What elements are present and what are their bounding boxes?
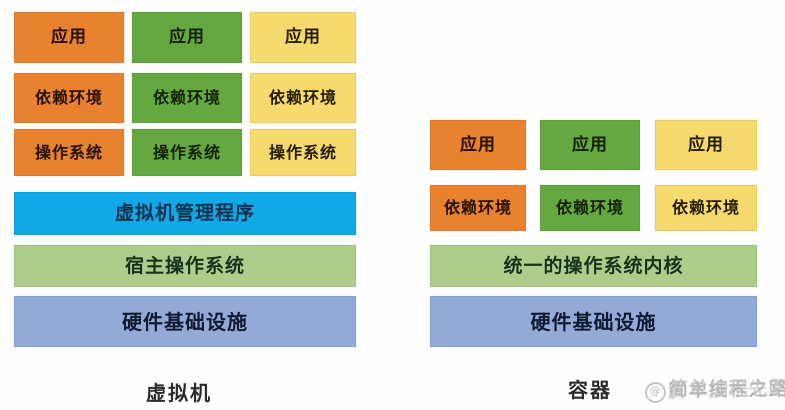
vm-app-box-2[interactable]: 应用: [132, 12, 242, 63]
vm-caption: 虚拟机: [146, 377, 212, 406]
vm-deps-box-1[interactable]: 依赖环境: [14, 73, 124, 123]
vm-deps-box-2[interactable]: 依赖环境: [132, 73, 242, 123]
vm-os-box-2[interactable]: 操作系统: [132, 129, 242, 176]
watermark-layer-b: 脚本技术先坚: [668, 373, 785, 403]
vm-os-box-3[interactable]: 操作系统: [250, 129, 356, 176]
vm-app-box-1[interactable]: 应用: [14, 12, 124, 63]
container-app-box-1[interactable]: 应用: [430, 120, 526, 170]
watermark-layer-a: @简单编程之路: [645, 374, 785, 403]
vm-hypervisor-bar[interactable]: 虚拟机管理程序: [14, 192, 356, 235]
container-deps-box-3[interactable]: 依赖环境: [655, 185, 757, 231]
vm-deps-box-3[interactable]: 依赖环境: [250, 73, 356, 123]
container-app-box-2[interactable]: 应用: [540, 120, 640, 170]
vm-hardware-bar[interactable]: 硬件基础设施: [14, 296, 356, 347]
watermark-badge-icon: @: [645, 382, 666, 403]
container-kernel-bar[interactable]: 统一的操作系统内核: [430, 245, 757, 287]
watermark-text-a: 简单编程之路: [669, 378, 785, 400]
container-deps-box-2[interactable]: 依赖环境: [540, 185, 640, 231]
vm-app-box-3[interactable]: 应用: [250, 12, 356, 63]
diagram-canvas: 应用 应用 应用 依赖环境 依赖环境 依赖环境 操作系统 操作系统 操作系统 虚…: [0, 0, 785, 410]
container-deps-box-1[interactable]: 依赖环境: [430, 185, 526, 231]
container-hardware-bar[interactable]: 硬件基础设施: [430, 296, 757, 347]
vm-host-os-bar[interactable]: 宿主操作系统: [14, 245, 356, 287]
container-caption: 容器: [568, 374, 612, 403]
container-app-box-3[interactable]: 应用: [655, 120, 757, 170]
vm-os-box-1[interactable]: 操作系统: [14, 129, 124, 176]
